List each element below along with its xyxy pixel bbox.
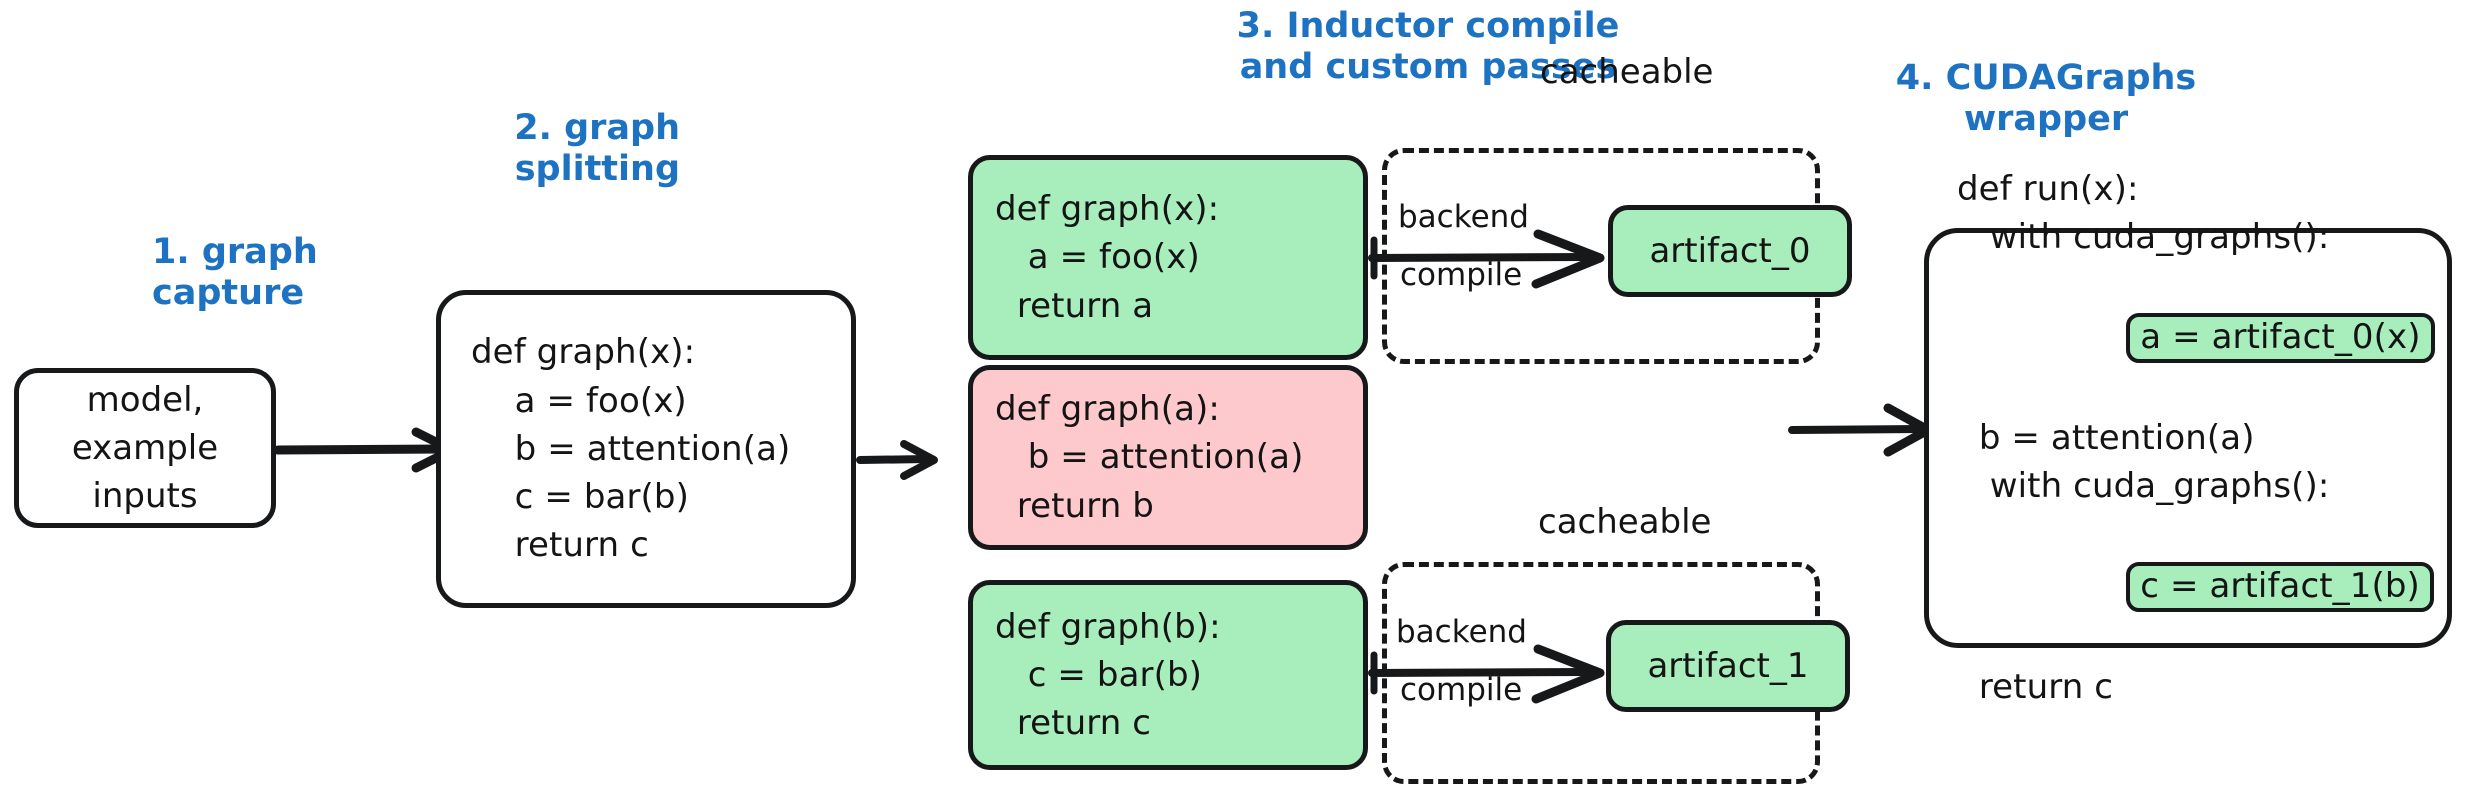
- compile-label-top: compile: [1400, 258, 1522, 294]
- cudagraphs-runtime-box[interactable]: def run(x): with cuda_graphs(): a = arti…: [1924, 228, 2452, 648]
- artifact-0-text: artifact_0: [1613, 227, 1847, 275]
- runtime-line-artifact-0-wrap: a = artifact_0(x): [1957, 261, 2447, 414]
- subgraph-foo-box[interactable]: def graph(x): a = foo(x) return a: [968, 155, 1368, 360]
- subgraph-bar-box[interactable]: def graph(b): c = bar(b) return c: [968, 580, 1368, 770]
- runtime-highlight-artifact-1: c = artifact_1(b): [2126, 562, 2434, 612]
- runtime-line-with-cudagraphs-2: with cuda_graphs():: [1957, 462, 2447, 510]
- model-example-inputs-text: model, example inputs: [19, 376, 271, 521]
- subgraph-bar-code: def graph(b): c = bar(b) return c: [973, 603, 1363, 748]
- runtime-line-def-run: def run(x):: [1957, 165, 2447, 213]
- step-label-4-cudagraphs-wrapper: 4. CUDAGraphs wrapper: [1866, 58, 2226, 141]
- artifact-0-box[interactable]: artifact_0: [1608, 205, 1852, 297]
- artifact-1-text: artifact_1: [1611, 642, 1845, 690]
- step-label-1-graph-capture: 1. graph capture: [152, 232, 352, 315]
- step-label-2-graph-splitting: 2. graph splitting: [470, 108, 680, 191]
- cudagraphs-runtime-code: def run(x): with cuda_graphs(): a = arti…: [1929, 165, 2447, 712]
- compile-label-bottom: compile: [1400, 673, 1522, 709]
- diagram-canvas: 1. graph capture 2. graph splitting 3. I…: [0, 0, 2474, 794]
- captured-graph-box[interactable]: def graph(x): a = foo(x) b = attention(a…: [436, 290, 856, 608]
- runtime-highlight-artifact-0: a = artifact_0(x): [2126, 313, 2434, 363]
- cacheable-label-bottom: cacheable: [1538, 502, 1838, 543]
- runtime-line-return: return c: [1957, 663, 2447, 711]
- runtime-line-attention: b = attention(a): [1957, 414, 2447, 462]
- arrow-graph-to-split: [856, 435, 976, 485]
- captured-graph-code: def graph(x): a = foo(x) b = attention(a…: [441, 328, 851, 569]
- subgraph-attention-code: def graph(a): b = attention(a) return b: [973, 385, 1363, 530]
- runtime-line-artifact-1-wrap: c = artifact_1(b): [1957, 510, 2447, 663]
- artifact-1-box[interactable]: artifact_1: [1606, 620, 1850, 712]
- model-example-inputs-box[interactable]: model, example inputs: [14, 368, 276, 528]
- subgraph-foo-code: def graph(x): a = foo(x) return a: [973, 185, 1363, 330]
- subgraph-attention-box[interactable]: def graph(a): b = attention(a) return b: [968, 365, 1368, 550]
- backend-label-bottom: backend: [1396, 615, 1527, 651]
- backend-label-top: backend: [1398, 200, 1529, 236]
- cacheable-label-top: cacheable: [1540, 52, 1840, 93]
- runtime-line-with-cudagraphs-1: with cuda_graphs():: [1957, 213, 2447, 261]
